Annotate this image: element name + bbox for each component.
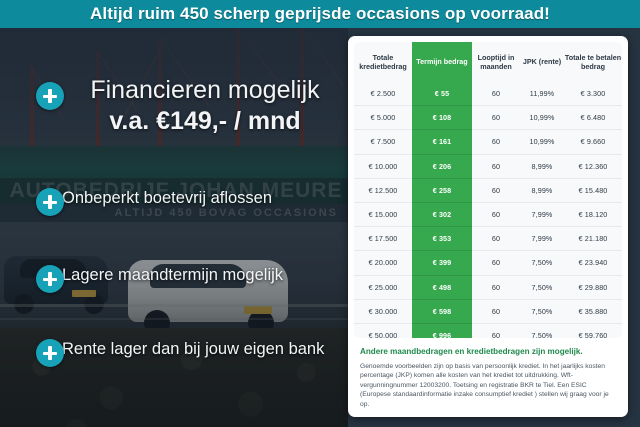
cell-looptijd: 60	[472, 299, 520, 323]
headline: Financieren mogelijk v.a. €149,- / mnd	[62, 76, 348, 136]
headline-line-2: v.a. €149,- / mnd	[62, 106, 348, 136]
cell-totaal: € 18.120	[564, 202, 622, 226]
cell-krediet: € 30.000	[354, 299, 412, 323]
cell-looptijd: 60	[472, 154, 520, 178]
cell-jkp: 7,99%	[520, 227, 564, 251]
cell-termijn: € 399	[412, 251, 472, 275]
cell-jkp: 7,50%	[520, 323, 564, 338]
benefit-item-1: Onbeperkt boetevrij aflossen	[36, 188, 348, 208]
cell-jkp: 10,99%	[520, 106, 564, 130]
cell-termijn: € 996	[412, 323, 472, 338]
cell-looptijd: 60	[472, 227, 520, 251]
benefit-item-2: Lagere maandtermijn mogelijk	[36, 265, 348, 285]
table-row: € 20.000€ 399607,50%€ 23.940	[354, 251, 622, 275]
cell-jkp: 7,99%	[520, 202, 564, 226]
cell-jkp: 8,99%	[520, 154, 564, 178]
cell-totaal: € 9.660	[564, 130, 622, 154]
plus-icon	[36, 188, 64, 216]
cell-krediet: € 10.000	[354, 154, 412, 178]
cell-krediet: € 20.000	[354, 251, 412, 275]
cell-termijn: € 302	[412, 202, 472, 226]
table-row: € 17.500€ 353607,99%€ 21.180	[354, 227, 622, 251]
cell-totaal: € 6.480	[564, 106, 622, 130]
plus-icon	[36, 265, 64, 293]
cell-totaal: € 21.180	[564, 227, 622, 251]
cell-termijn: € 161	[412, 130, 472, 154]
cell-totaal: € 23.940	[564, 251, 622, 275]
cell-krediet: € 2.500	[354, 82, 412, 106]
table-row: € 25.000€ 498607,50%€ 29.880	[354, 275, 622, 299]
disclaimer-heading: Andere maandbedragen en kredietbedragen …	[360, 346, 616, 357]
table-row: € 15.000€ 302607,99%€ 18.120	[354, 202, 622, 226]
cell-krediet: € 7.500	[354, 130, 412, 154]
cell-jkp: 7,50%	[520, 251, 564, 275]
table-row: € 10.000€ 206608,99%€ 12.360	[354, 154, 622, 178]
cell-looptijd: 60	[472, 130, 520, 154]
cell-termijn: € 353	[412, 227, 472, 251]
cell-looptijd: 60	[472, 323, 520, 338]
table-row: € 2.500€ 556011,99%€ 3.300	[354, 82, 622, 106]
cell-krediet: € 5.000	[354, 106, 412, 130]
column-header-jkp: JPK (rente)	[520, 42, 564, 82]
cell-jkp: 7,50%	[520, 275, 564, 299]
headline-line-1: Financieren mogelijk	[62, 76, 348, 104]
cell-termijn: € 258	[412, 178, 472, 202]
cell-termijn: € 55	[412, 82, 472, 106]
cell-totaal: € 35.880	[564, 299, 622, 323]
promo-banner-image: AUTOBEDRIJF JOHAN MEURE ALTIJD 450 BOVAG…	[0, 0, 640, 427]
disclaimer: Andere maandbedragen en kredietbedragen …	[360, 346, 616, 409]
cell-totaal: € 29.880	[564, 275, 622, 299]
cell-jkp: 8,99%	[520, 178, 564, 202]
cell-jkp: 7,50%	[520, 299, 564, 323]
benefit-label: Lagere maandtermijn mogelijk	[62, 265, 283, 285]
cell-krediet: € 25.000	[354, 275, 412, 299]
benefit-item-3: Rente lager dan bij jouw eigen bank	[36, 339, 348, 359]
table-header-row: Totale kredietbedrag Termijn bedrag Loop…	[354, 42, 622, 82]
benefit-label: Onbeperkt boetevrij aflossen	[62, 188, 272, 208]
cell-totaal: € 15.480	[564, 178, 622, 202]
cell-termijn: € 598	[412, 299, 472, 323]
cell-termijn: € 108	[412, 106, 472, 130]
table-body: € 2.500€ 556011,99%€ 3.300€ 5.000€ 10860…	[354, 82, 622, 338]
table-row: € 50.000€ 996607,50%€ 59.760	[354, 323, 622, 338]
cell-jkp: 11,99%	[520, 82, 564, 106]
finance-card: Totale kredietbedrag Termijn bedrag Loop…	[348, 36, 628, 417]
cell-looptijd: 60	[472, 275, 520, 299]
plus-icon	[36, 82, 64, 110]
cell-jkp: 10,99%	[520, 130, 564, 154]
cell-krediet: € 17.500	[354, 227, 412, 251]
table-row: € 30.000€ 598607,50%€ 35.880	[354, 299, 622, 323]
table-row: € 5.000€ 1086010,99%€ 6.480	[354, 106, 622, 130]
top-banner: Altijd ruim 450 scherp geprijsde occasio…	[0, 0, 640, 28]
disclaimer-body: Genoemde voorbeelden zijn op basis van p…	[360, 362, 616, 409]
cell-looptijd: 60	[472, 106, 520, 130]
cell-looptijd: 60	[472, 178, 520, 202]
cell-termijn: € 498	[412, 275, 472, 299]
table-row: € 12.500€ 258608,99%€ 15.480	[354, 178, 622, 202]
cell-termijn: € 206	[412, 154, 472, 178]
column-header-krediet: Totale kredietbedrag	[354, 42, 412, 82]
plus-icon	[36, 339, 64, 367]
cell-krediet: € 15.000	[354, 202, 412, 226]
cell-looptijd: 60	[472, 82, 520, 106]
column-header-termijn: Termijn bedrag	[412, 42, 472, 82]
cell-totaal: € 59.760	[564, 323, 622, 338]
cell-looptijd: 60	[472, 202, 520, 226]
cell-krediet: € 12.500	[354, 178, 412, 202]
benefit-label: Rente lager dan bij jouw eigen bank	[62, 339, 324, 359]
cell-looptijd: 60	[472, 251, 520, 275]
cell-totaal: € 12.360	[564, 154, 622, 178]
cell-krediet: € 50.000	[354, 323, 412, 338]
table-row: € 7.500€ 1616010,99%€ 9.660	[354, 130, 622, 154]
column-header-looptijd: Looptijd in maanden	[472, 42, 520, 82]
finance-table-container: Totale kredietbedrag Termijn bedrag Loop…	[354, 42, 622, 338]
column-header-totaal: Totale te betalen bedrag	[564, 42, 622, 82]
cell-totaal: € 3.300	[564, 82, 622, 106]
left-content: Financieren mogelijk v.a. €149,- / mnd O…	[0, 28, 348, 427]
top-banner-text: Altijd ruim 450 scherp geprijsde occasio…	[90, 4, 550, 24]
finance-table: Totale kredietbedrag Termijn bedrag Loop…	[354, 42, 622, 338]
